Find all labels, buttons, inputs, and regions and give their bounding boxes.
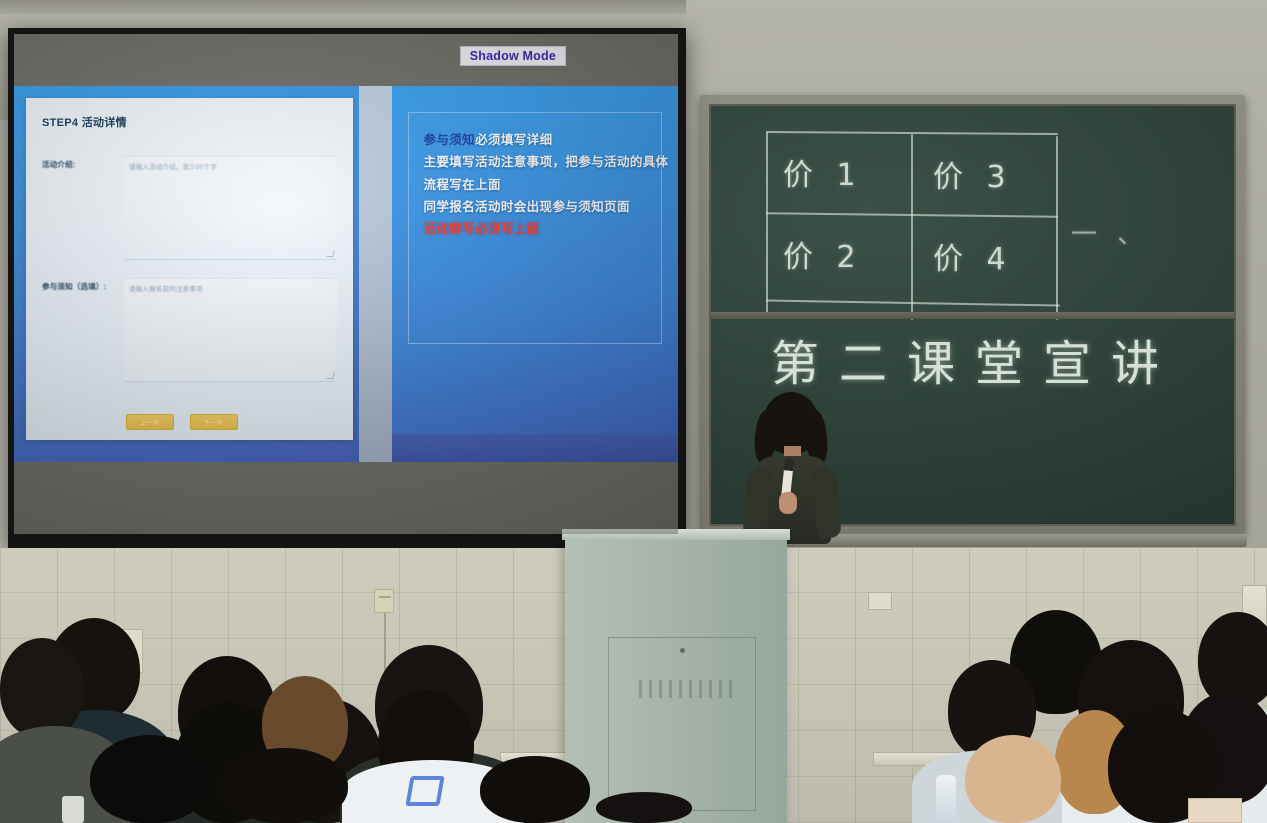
field-label-intro: 活动介绍: [42, 156, 124, 260]
audience-head [596, 792, 692, 823]
audience [0, 560, 1267, 823]
participation-notice-placeholder: 请输入报名前的注意事项 [129, 283, 203, 293]
desk-item [1188, 798, 1242, 823]
info-accent-1: 参与须知 [423, 132, 475, 147]
audience-head [0, 638, 84, 738]
info-line-4: 同学报名活动时会出现参与须知页面 [423, 196, 651, 218]
activity-intro-placeholder: 请输入活动介绍，至少50个字 [129, 161, 217, 171]
form-title: STEP4 活动详情 [42, 114, 337, 130]
next-step-button[interactable]: 下一步 [190, 414, 238, 430]
field-label-notice: 参与须知（选填）: [42, 278, 124, 382]
activity-form-card: STEP4 活动详情 活动介绍: 请输入活动介绍，至少50个字 参与须知（选填）… [26, 98, 353, 440]
presenter [735, 392, 847, 544]
resize-handle-icon[interactable] [327, 372, 335, 379]
desk-item [62, 796, 84, 823]
shadow-mode-badge[interactable]: Shadow Mode [460, 46, 566, 66]
audience-arm [965, 735, 1061, 823]
blackboard-cell-3: 价 2 [783, 232, 863, 276]
projector-screen: Shadow Mode STEP4 活动详情 活动介绍: 请输入活动介绍，至少5… [14, 34, 678, 534]
notice-info-panel: 参与须知必须填写详细 主要填写活动注意事项，把参与活动的具体 流程写在上面 同学… [408, 112, 662, 344]
blackboard-title: 第二课堂宣讲 [771, 324, 1179, 394]
water-bottle [936, 775, 956, 823]
audience-head [222, 748, 348, 823]
info-line-3: 流程写在上面 [423, 174, 651, 196]
blackboard-cell-2: 价 3 [933, 152, 1013, 196]
podium-top [562, 529, 790, 540]
field-activity-intro: 活动介绍: 请输入活动介绍，至少50个字 [42, 156, 337, 260]
activity-intro-input[interactable]: 请输入活动介绍，至少50个字 [124, 156, 337, 260]
slide-right-panel: 参与须知必须填写详细 主要填写活动注意事项，把参与活动的具体 流程写在上面 同学… [392, 86, 678, 462]
shirt-logo-icon [405, 776, 444, 806]
prev-step-button[interactable]: 上一步 [126, 414, 174, 430]
screen-topbar: Shadow Mode [14, 34, 678, 86]
blackboard-side-marks: 一 、 [1071, 214, 1149, 251]
participation-notice-input[interactable]: 请输入报名前的注意事项 [124, 278, 337, 382]
blackboard-cell-1: 价 1 [783, 150, 863, 194]
info-rest-1: 必须填写详细 [475, 132, 552, 147]
screen-bottom-bar [14, 462, 678, 534]
audience-head [90, 735, 210, 823]
form-button-row: 上一步 下一步 [26, 414, 337, 430]
resize-handle-icon[interactable] [327, 250, 335, 257]
audience-head [480, 756, 590, 823]
slide-light-band [359, 86, 392, 462]
slide-foot-band [392, 434, 678, 462]
info-line-5-alert: 活动群号必须写上面 [423, 218, 651, 240]
blackboard-divider [711, 312, 1234, 319]
field-participation-notice: 参与须知（选填）: 请输入报名前的注意事项 [42, 278, 337, 382]
presenter-hair [763, 392, 819, 454]
slide-content: STEP4 活动详情 活动介绍: 请输入活动介绍，至少50个字 参与须知（选填）… [14, 86, 678, 462]
classroom-scene: 价 1 价 3 价 2 价 4 一 、 第二课堂宣讲 Shadow Mode S… [0, 0, 1267, 823]
info-line-2: 主要填写活动注意事项，把参与活动的具体 [423, 151, 651, 173]
info-line-1: 参与须知必须填写详细 [423, 129, 651, 151]
slide-left-panel: STEP4 活动详情 活动介绍: 请输入活动介绍，至少50个字 参与须知（选填）… [14, 86, 359, 462]
blackboard-cell-4: 价 4 [933, 234, 1013, 278]
